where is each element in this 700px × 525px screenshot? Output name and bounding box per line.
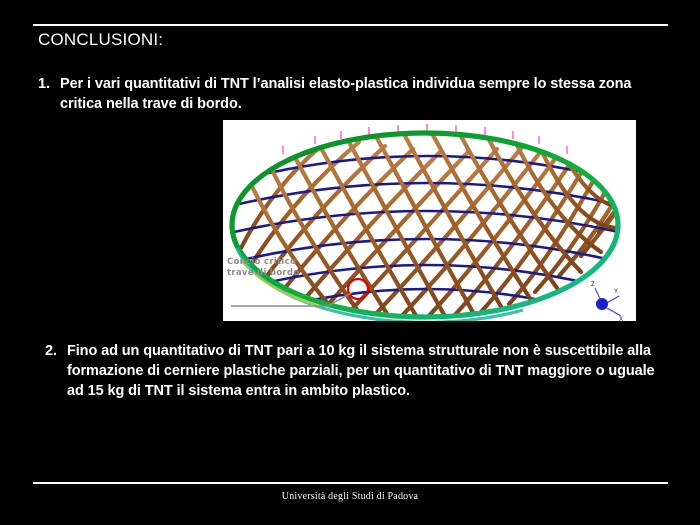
critical-segment-marker bbox=[348, 279, 368, 299]
gridshell-diagram: Z Y X bbox=[223, 120, 636, 321]
slide-root: CONCLUSIONI: 1. Per i vari quantitativi … bbox=[0, 0, 700, 525]
load-arrows bbox=[283, 124, 567, 154]
figure-caption-line-1: Concio critico bbox=[227, 257, 296, 268]
list-number-2: 2. bbox=[45, 341, 67, 361]
footer-institution: Università degli Studi di Padova bbox=[0, 491, 700, 502]
divider-top bbox=[33, 24, 668, 26]
conclusion-item-2: 2. Fino ad un quantitativo di TNT pari a… bbox=[45, 341, 655, 401]
svg-text:X: X bbox=[619, 317, 623, 321]
page-title: CONCLUSIONI: bbox=[38, 30, 163, 50]
svg-text:Y: Y bbox=[614, 289, 618, 295]
figure-caption-line-2: trave di bordo bbox=[227, 268, 299, 279]
conclusion-text-1: Per i vari quantitativi di TNT l’analisi… bbox=[60, 74, 638, 114]
axis-triad-icon: Z Y X bbox=[591, 282, 623, 321]
conclusion-text-2: Fino ad un quantitativo di TNT pari a 10… bbox=[67, 341, 655, 401]
conclusion-item-1: 1. Per i vari quantitativi di TNT l’anal… bbox=[38, 74, 638, 114]
divider-bottom bbox=[33, 482, 668, 484]
list-number-1: 1. bbox=[38, 74, 60, 94]
svg-text:Z: Z bbox=[591, 282, 595, 288]
dome-figure: Z Y X Concio critico trave di bordo bbox=[223, 120, 636, 321]
